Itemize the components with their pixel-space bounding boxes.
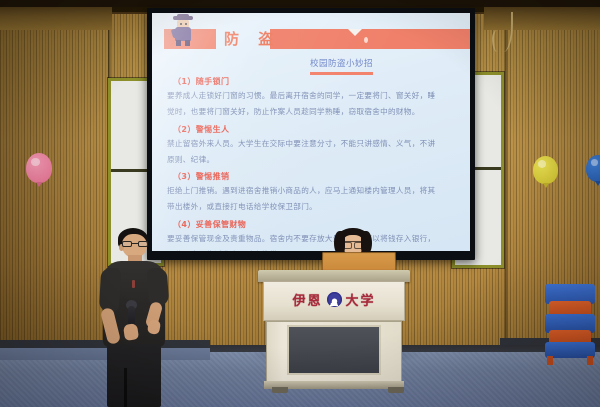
podium-foot bbox=[272, 387, 288, 393]
podium-front-panel: 伊恩 大学 bbox=[263, 281, 405, 321]
lecture-hall-scene: 防 盗 校园防盗小妙招 （1）随手锁门 要养成人走锁好门窗的习惯。最后离开宿舍的… bbox=[0, 0, 600, 407]
university-seal-icon bbox=[327, 292, 342, 307]
slide-bar-dot-icon bbox=[364, 37, 368, 43]
slide-section-heading: （2）警惕生人 bbox=[173, 124, 456, 135]
slide-subtitle-underline bbox=[310, 72, 373, 75]
sleeve bbox=[99, 268, 121, 313]
slide-section-heading: （1）随手锁门 bbox=[173, 76, 456, 87]
slide-section-line: 拒绝上门推销。遇到进宿舍推销小商品的人，应马上通知楼内管理人员，将其 bbox=[167, 185, 456, 197]
slide-section-line: 觉时，也要将门窗关好，防止作案人员趁同学熟睡，窃取宿舍中的财物。 bbox=[167, 106, 456, 118]
slide-title-bar bbox=[152, 29, 470, 49]
slide-subtitle: 校园防盗小妙招 bbox=[310, 57, 373, 69]
shirt-logo bbox=[132, 280, 135, 288]
university-name-left: 伊恩 bbox=[292, 290, 322, 309]
slide-title: 防 盗 bbox=[224, 29, 280, 49]
hanging-cable bbox=[492, 30, 502, 52]
glasses-icon bbox=[122, 241, 148, 247]
slide-section-line: 要养成人走锁好门窗的习惯。最后离开宿舍的同学，一定要将门、窗关好，睡 bbox=[167, 90, 456, 102]
stool bbox=[545, 342, 595, 358]
projection-screen-frame: 防 盗 校园防盗小妙招 （1）随手锁门 要养成人走锁好门窗的习惯。最后离开宿舍的… bbox=[147, 8, 475, 260]
podium-body bbox=[266, 321, 402, 383]
slide-section-line: 即使是少量生活费也要随身携带。 bbox=[167, 249, 456, 251]
yellow-balloon bbox=[533, 156, 558, 184]
hand bbox=[123, 323, 139, 341]
slide-title-bar-right bbox=[270, 29, 470, 49]
university-branding: 伊恩 大学 bbox=[264, 290, 404, 309]
stacked-stools bbox=[545, 284, 600, 356]
podium-foot bbox=[388, 387, 404, 393]
podium-inset-panel bbox=[287, 325, 381, 375]
detective-icon bbox=[172, 16, 194, 46]
slide-bar-notch-icon bbox=[348, 29, 362, 36]
blue-balloon bbox=[586, 155, 600, 182]
slide-section-heading: （3）警惕推销 bbox=[173, 171, 456, 182]
slide-section-line: 带出楼外，或直接打电话给学校保卫部门。 bbox=[167, 201, 456, 213]
projection-screen: 防 盗 校园防盗小妙招 （1）随手锁门 要养成人走锁好门窗的习惯。最后离开宿舍的… bbox=[152, 13, 470, 251]
slide-section-line: 要妥善保管现金及贵重物品。宿舍内不要存放大量现金，可以将钱存入银行， bbox=[167, 233, 456, 245]
slide-section-heading: （4）妥善保管财物 bbox=[173, 219, 456, 230]
trouser-seam bbox=[124, 368, 127, 407]
university-name-right: 大学 bbox=[346, 290, 376, 309]
pink-balloon bbox=[26, 153, 52, 183]
slide-subtitle-group: 校园防盗小妙招 bbox=[310, 57, 373, 75]
slide-section-line: 原则、纪律。 bbox=[167, 154, 456, 166]
sleeve bbox=[147, 267, 170, 306]
slide-section-line: 禁止留宿外来人员。大学生在交际中要注意分寸，不能只讲感情、义气，不讲 bbox=[167, 138, 456, 150]
standing-presenter bbox=[98, 228, 180, 407]
slide-body: （1）随手锁门 要养成人走锁好门窗的习惯。最后离开宿舍的同学，一定要将门、窗关好… bbox=[167, 76, 456, 251]
trousers bbox=[107, 344, 161, 407]
ceiling-shadow bbox=[0, 0, 600, 7]
